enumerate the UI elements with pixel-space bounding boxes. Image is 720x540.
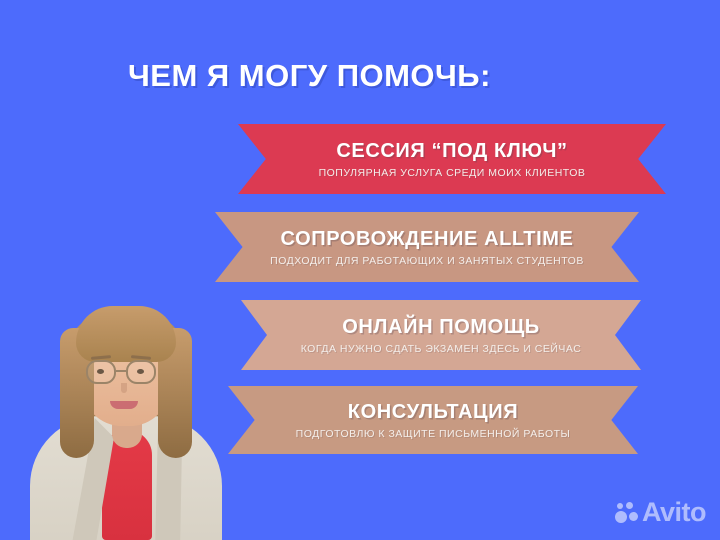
hair-fringe — [76, 306, 176, 362]
ribbon-subtitle: ПОДГОТОВЛЮ К ЗАЩИТЕ ПИСЬМЕННОЙ РАБОТЫ — [296, 428, 571, 440]
ribbon-title: СОПРОВОЖДЕНИЕ ALLTIME — [281, 228, 574, 251]
portrait-photo — [30, 288, 222, 540]
service-ribbon-onlayn-pomoshch[interactable]: ОНЛАЙН ПОМОЩЬ КОГДА НУЖНО СДАТЬ ЭКЗАМЕН … — [241, 300, 641, 370]
nose — [121, 383, 127, 393]
ribbon-title: КОНСУЛЬТАЦИЯ — [348, 401, 518, 424]
service-ribbon-sessiya-pod-klyuch[interactable]: СЕССИЯ “ПОД КЛЮЧ” ПОПУЛЯРНАЯ УСЛУГА СРЕД… — [238, 124, 666, 194]
ribbon-subtitle: ПОПУЛЯРНАЯ УСЛУГА СРЕДИ МОИХ КЛИЕНТОВ — [319, 167, 586, 179]
ribbon-title: СЕССИЯ “ПОД КЛЮЧ” — [336, 140, 567, 163]
service-ribbon-konsultatsiya[interactable]: КОНСУЛЬТАЦИЯ ПОДГОТОВЛЮ К ЗАЩИТЕ ПИСЬМЕН… — [228, 386, 638, 454]
page-title: ЧЕМ Я МОГУ ПОМОЧЬ: — [128, 58, 491, 94]
avito-dots-icon — [615, 502, 637, 524]
ribbon-title: ОНЛАЙН ПОМОЩЬ — [342, 316, 540, 339]
avito-watermark: Avito — [615, 499, 706, 526]
ribbon-subtitle: КОГДА НУЖНО СДАТЬ ЭКЗАМЕН ЗДЕСЬ И СЕЙЧАС — [301, 343, 582, 355]
ribbon-subtitle: ПОДХОДИТ ДЛЯ РАБОТАЮЩИХ И ЗАНЯТЫХ СТУДЕН… — [270, 255, 584, 267]
glasses-lens-right — [126, 360, 156, 384]
service-ribbon-soprovozhdenie-alltime[interactable]: СОПРОВОЖДЕНИЕ ALLTIME ПОДХОДИТ ДЛЯ РАБОТ… — [215, 212, 639, 282]
poster-canvas: ЧЕМ Я МОГУ ПОМОЧЬ: СЕССИЯ “ПОД КЛЮЧ” ПОП… — [0, 0, 720, 540]
glasses-bridge — [116, 370, 126, 372]
glasses-lens-left — [86, 360, 116, 384]
avito-wordmark: Avito — [642, 499, 706, 526]
mouth — [110, 401, 138, 409]
